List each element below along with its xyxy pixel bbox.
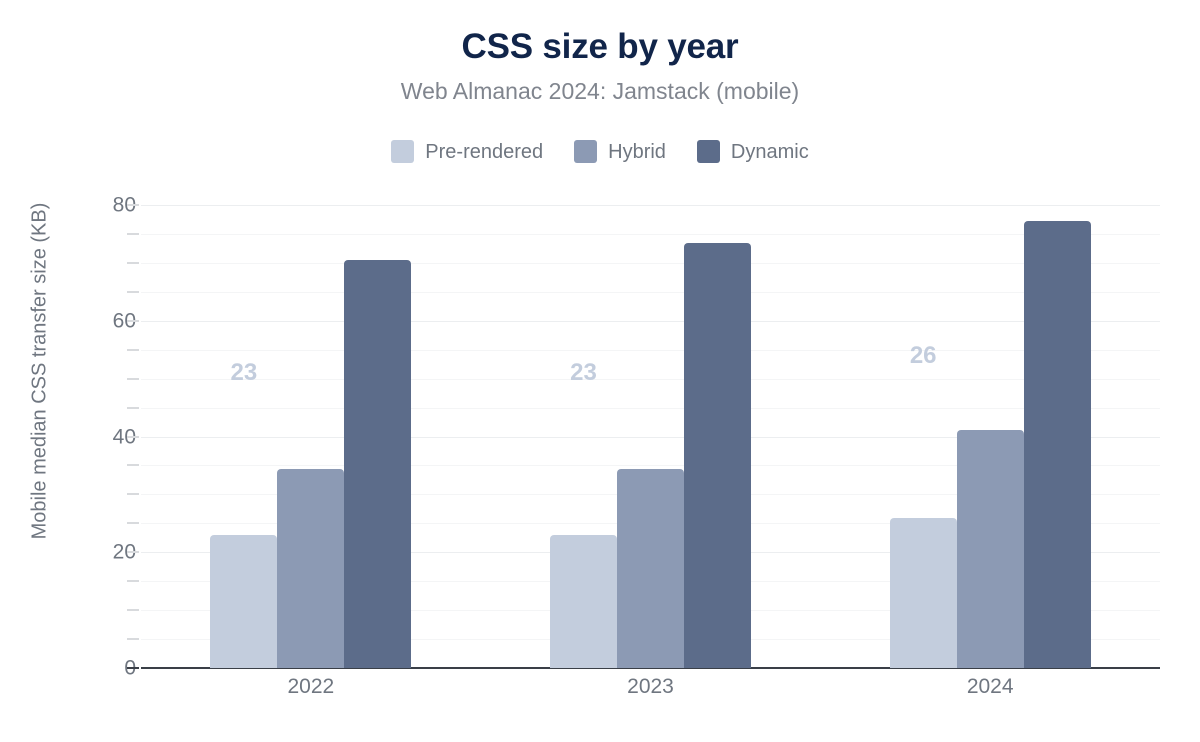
bar-slot: [277, 205, 344, 668]
y-axis-tick-mark: [127, 580, 139, 582]
bar[interactable]: [684, 243, 751, 668]
y-axis-tick-mark: [127, 464, 139, 466]
y-axis-tick-mark: [127, 262, 139, 264]
y-axis-tick-mark: [127, 378, 139, 380]
x-axis-tick-label: 2022: [141, 676, 481, 697]
bar[interactable]: [344, 260, 411, 668]
y-axis-tick-mark: [127, 349, 139, 351]
bar-slot: 23: [210, 205, 277, 668]
y-axis-tick-mark: [127, 493, 139, 495]
y-axis-tick-mark: [127, 638, 139, 640]
bar[interactable]: [890, 518, 957, 668]
bar-slot: [957, 205, 1024, 668]
bar-value-label: 23: [570, 361, 597, 385]
plot-area: 020406080 232326 202220232024: [0, 0, 1200, 742]
bar-group: 26: [820, 205, 1160, 668]
bar[interactable]: [550, 535, 617, 668]
y-axis-tick-mark: [127, 667, 139, 669]
y-axis-tick-mark: [127, 233, 139, 235]
bar-slot: [684, 205, 751, 668]
y-axis-tick-mark: [127, 609, 139, 611]
bar-value-label: 23: [230, 361, 257, 385]
bar[interactable]: [617, 469, 684, 668]
bar[interactable]: [210, 535, 277, 668]
bar[interactable]: [1024, 221, 1091, 668]
x-axis-labels: 202220232024: [141, 676, 1160, 697]
y-axis-tick-mark: [127, 436, 139, 438]
bar-group: 23: [141, 205, 481, 668]
y-axis-tick-mark: [127, 291, 139, 293]
bar-slot: 26: [890, 205, 957, 668]
bar-slot: [1024, 205, 1091, 668]
bar-groups: 232326: [141, 205, 1160, 668]
bar[interactable]: [277, 469, 344, 668]
y-axis-tick-mark: [127, 551, 139, 553]
y-axis-tick-mark: [127, 320, 139, 322]
y-axis-tick-mark: [127, 407, 139, 409]
x-axis-tick-label: 2024: [820, 676, 1160, 697]
y-axis-tick-mark: [127, 204, 139, 206]
bar-group: 23: [481, 205, 821, 668]
bar[interactable]: [957, 430, 1024, 668]
bar-slot: [344, 205, 411, 668]
x-axis-tick-label: 2023: [481, 676, 821, 697]
bar-slot: [617, 205, 684, 668]
bar-slot: 23: [550, 205, 617, 668]
y-axis-tick-mark: [127, 522, 139, 524]
chart-figure: CSS size by year Web Almanac 2024: Jamst…: [0, 0, 1200, 742]
bar-value-label: 26: [910, 344, 937, 368]
